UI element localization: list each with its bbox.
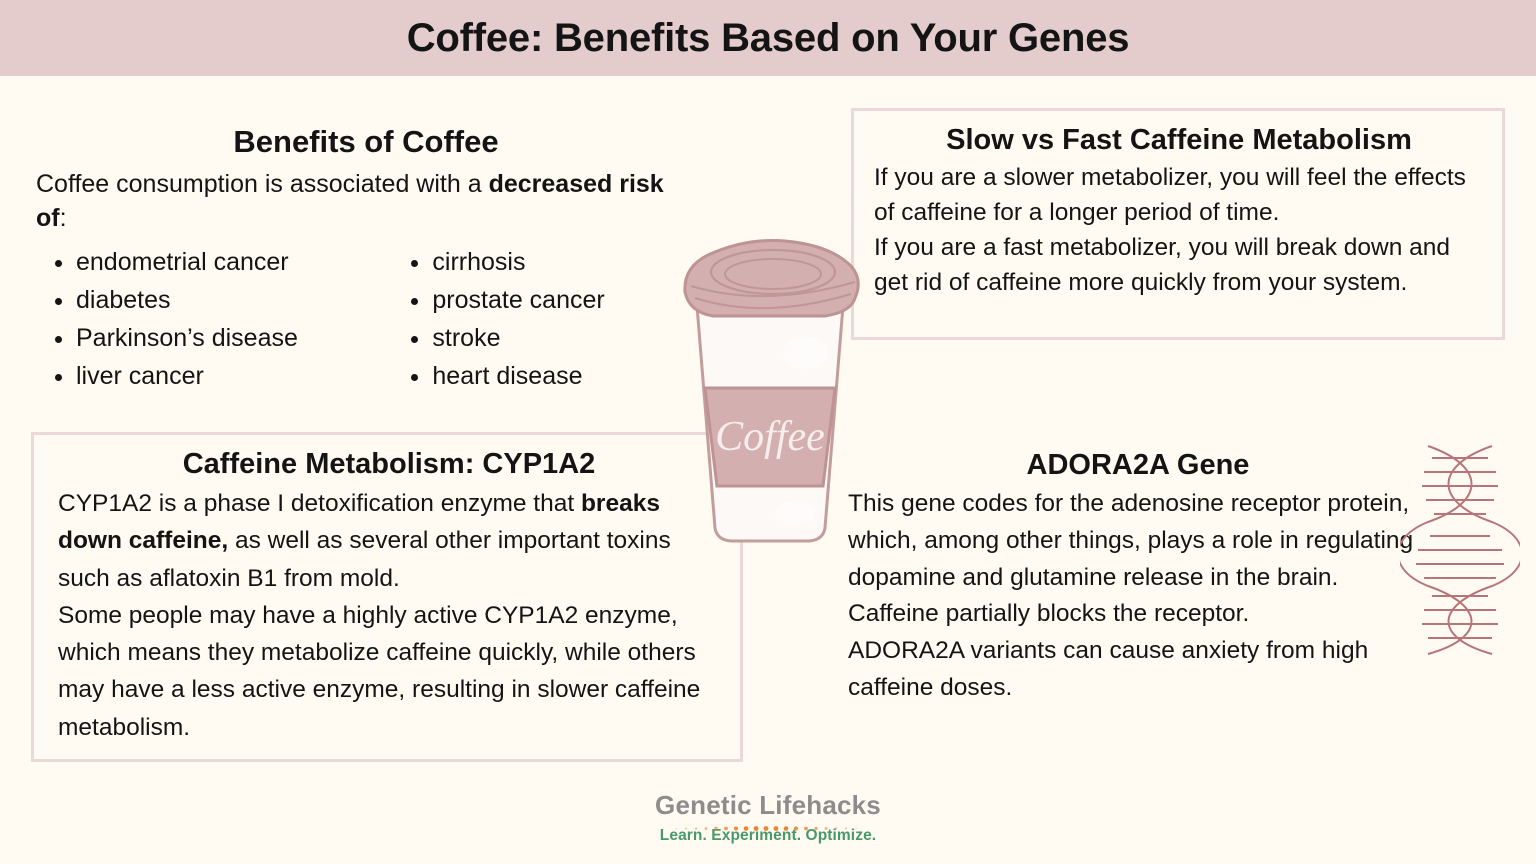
benefits-section: Benefits of Coffee Coffee consumption is… (36, 124, 696, 395)
logo-dot-rule (670, 819, 866, 826)
cup-highlight (783, 337, 827, 369)
cyp1a2-p1-prefix: CYP1A2 is a phase I detoxification enzym… (58, 490, 581, 517)
list-item: liver cancer (76, 357, 358, 395)
benefits-lead-prefix: Coffee consumption is associated with a (36, 170, 489, 198)
cyp1a2-paragraph-2: Some people may have a highly active CYP… (58, 597, 720, 746)
list-item: diabetes (76, 281, 358, 319)
site-logo: Genetic Lifehacks (0, 790, 1536, 845)
page-title: Coffee: Benefits Based on Your Genes (0, 0, 1536, 76)
cup-highlight-2 (775, 501, 815, 525)
benefits-column-left: endometrial cancer diabetes Parkinson’s … (36, 243, 358, 395)
logo-brand: Genetic Lifehacks (655, 790, 881, 821)
list-item: endometrial cancer (76, 243, 358, 281)
benefits-lead: Coffee consumption is associated with a … (36, 167, 696, 235)
cyp1a2-section: Caffeine Metabolism: CYP1A2 CYP1A2 is a … (31, 432, 743, 762)
benefits-column-right: cirrhosis prostate cancer stroke heart d… (392, 243, 696, 395)
adora2a-paragraph-1: This gene codes for the adenosine recept… (848, 486, 1428, 633)
dna-helix-icon (1400, 440, 1520, 655)
cup-label: Coffee (715, 414, 825, 460)
adora2a-heading: ADORA2A Gene (848, 448, 1428, 482)
coffee-cup-illustration: Coffee (655, 228, 885, 548)
adora2a-paragraph-2: ADORA2A variants can cause anxiety from … (848, 633, 1428, 707)
benefits-lead-suffix: : (60, 204, 67, 232)
cyp1a2-heading: Caffeine Metabolism: CYP1A2 (58, 447, 720, 481)
benefits-heading: Benefits of Coffee (36, 124, 696, 161)
list-item: Parkinson’s disease (76, 319, 358, 357)
slow-vs-fast-section: Slow vs Fast Caffeine Metabolism If you … (851, 108, 1505, 340)
slow-vs-fast-paragraph-2: If you are a fast metabolizer, you will … (874, 231, 1484, 301)
benefits-bullet-columns: endometrial cancer diabetes Parkinson’s … (36, 243, 696, 395)
slow-vs-fast-paragraph-1: If you are a slower metabolizer, you wil… (874, 161, 1484, 231)
cyp1a2-paragraph-1: CYP1A2 is a phase I detoxification enzym… (58, 485, 720, 597)
slow-vs-fast-heading: Slow vs Fast Caffeine Metabolism (874, 123, 1484, 157)
infographic-root: Coffee: Benefits Based on Your Genes Ben… (0, 0, 1536, 864)
adora2a-section: ADORA2A Gene This gene codes for the ade… (848, 448, 1428, 707)
